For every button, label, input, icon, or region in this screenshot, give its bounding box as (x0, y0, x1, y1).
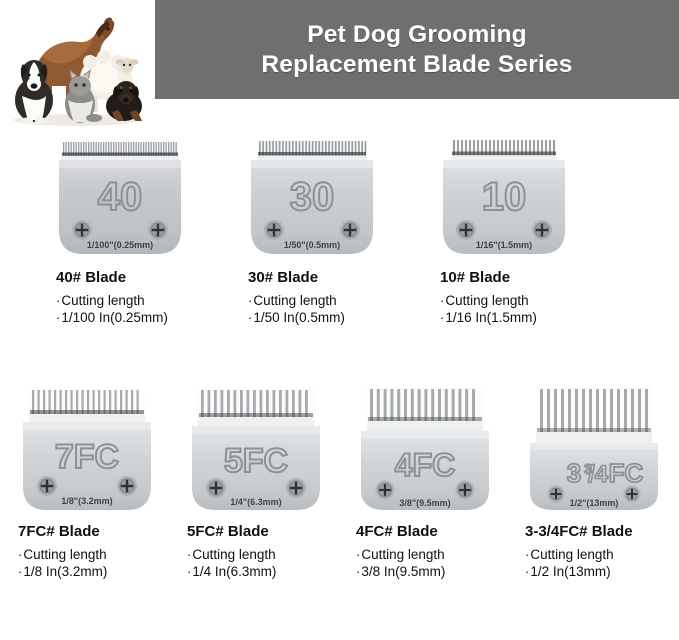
blade-spec-value: ·1/4 In(6.3mm) (187, 563, 340, 580)
blade-spec-value: ·1/50 In(0.5mm) (248, 309, 408, 326)
blade-screw-left (547, 486, 564, 503)
animal-collage-image (0, 0, 152, 128)
blade-screw-left (375, 481, 394, 500)
blade-spec-engraving-7fc: 1/8"(3.2mm) (61, 496, 112, 506)
blade-card-10: 10 1/16"(1.5mm) 10# Bla (408, 138, 600, 368)
blade-screw-left (264, 220, 284, 240)
blade-engraving-10: 10 (482, 175, 527, 219)
blade-screw-right (532, 220, 552, 240)
blade-spec-value-text: 1/50 In(0.5mm) (253, 310, 345, 325)
blade-spec-label-text: Cutting length (23, 547, 106, 562)
blade-row-2: 7FC 1/8"(3.2mm) 7FC# Bl (0, 386, 679, 621)
blade-caption-5fc: 5FC# Blade ·Cutting length ·1/4 In(6.3mm… (171, 522, 340, 580)
blade-engraving-30: 30 (290, 175, 335, 219)
blade-spec-label-text: Cutting length (192, 547, 275, 562)
blade-image-7fc: 7FC 1/8"(3.2mm) (17, 386, 157, 514)
blade-screw-left (456, 220, 476, 240)
blade-row-1: 40 1/100"(0.25mm) (0, 138, 679, 368)
blade-spec-label-text: Cutting length (530, 547, 613, 562)
blade-title: 40# Blade (56, 268, 216, 287)
blade-spec-label-text: Cutting length (361, 547, 444, 562)
blade-spec-value: ·3/8 In(9.5mm) (356, 563, 509, 580)
blade-engraving-40: 40 (98, 175, 143, 219)
blade-spec-label: ·Cutting length (248, 292, 408, 309)
blade-title: 4FC# Blade (356, 522, 509, 541)
blade-caption-7fc: 7FC# Blade ·Cutting length ·1/8 In(3.2mm… (2, 522, 171, 580)
blade-title: 30# Blade (248, 268, 408, 287)
blade-spec-value-text: 1/8 In(3.2mm) (23, 564, 107, 579)
blade-spec-label-text: Cutting length (253, 293, 336, 308)
blade-engraving-4fc: 4FC (394, 447, 454, 483)
blade-card-4fc: 4FC 3/8"(9.5mm) 4FC# Bl (340, 386, 509, 621)
blade-card-30: 30 1/50"(0.5mm) 30# Bla (216, 138, 408, 368)
blade-image-3-3-4fc: 3 3 /4 FC (524, 386, 664, 514)
blade-card-40: 40 1/100"(0.25mm) (24, 138, 216, 368)
blade-title: 5FC# Blade (187, 522, 340, 541)
blade-title: 3-3/4FC# Blade (525, 522, 678, 541)
blade-screw-right (286, 478, 306, 498)
blade-image-4fc: 4FC 3/8"(9.5mm) (355, 386, 495, 514)
blade-spec-label: ·Cutting length (440, 292, 600, 309)
blade-engraving-5fc: 5FC (223, 442, 287, 480)
blade-engraving-7fc: 7FC (54, 438, 118, 476)
blade-card-3-3-4fc: 3 3 /4 FC (509, 386, 678, 621)
page-header: Pet Dog Grooming Replacement Blade Serie… (0, 0, 679, 102)
blade-spec-engraving-3-3-4fc: 1/2"(13mm) (569, 498, 618, 508)
blade-spec-label: ·Cutting length (525, 546, 678, 563)
blade-spec-engraving-5fc: 1/4"(6.3mm) (230, 497, 281, 507)
blade-screw-left (37, 476, 57, 496)
blade-image-40: 40 1/100"(0.25mm) (55, 138, 185, 260)
blade-caption-4fc: 4FC# Blade ·Cutting length ·3/8 In(9.5mm… (340, 522, 509, 580)
blade-spec-value-text: 1/4 In(6.3mm) (192, 564, 276, 579)
page-title-line-1: Pet Dog Grooming (307, 20, 527, 50)
blade-spec-value: ·1/2 In(13mm) (525, 563, 678, 580)
blade-screw-right (148, 220, 168, 240)
svg-text:3: 3 (566, 458, 580, 488)
blade-spec-value: ·1/100 In(0.25mm) (56, 309, 216, 326)
blade-caption-3-3-4fc: 3-3/4FC# Blade ·Cutting length ·1/2 In(1… (509, 522, 678, 580)
blade-spec-label: ·Cutting length (187, 546, 340, 563)
blade-spec-value-text: 3/8 In(9.5mm) (361, 564, 445, 579)
blade-screw-right (623, 486, 640, 503)
blade-spec-value-text: 1/2 In(13mm) (530, 564, 610, 579)
blade-card-7fc: 7FC 1/8"(3.2mm) 7FC# Bl (2, 386, 171, 621)
blade-spec-label-text: Cutting length (445, 293, 528, 308)
blade-spec-label: ·Cutting length (18, 546, 171, 563)
page-title: Pet Dog Grooming Replacement Blade Serie… (155, 0, 679, 99)
blade-engraving-3-3-4fc: 3 3 /4 FC (566, 458, 643, 488)
blade-screw-right (117, 476, 137, 496)
blade-spec-engraving-10: 1/16"(1.5mm) (476, 240, 532, 250)
page-title-line-2: Replacement Blade Series (261, 50, 572, 80)
blade-caption-30: 30# Blade ·Cutting length ·1/50 In(0.5mm… (216, 268, 408, 326)
blade-card-5fc: 5FC 1/4"(6.3mm) 5FC# Bl (171, 386, 340, 621)
header-banner: Pet Dog Grooming Replacement Blade Serie… (155, 0, 679, 99)
blade-spec-value-text: 1/16 In(1.5mm) (445, 310, 537, 325)
blade-spec-label: ·Cutting length (56, 292, 216, 309)
blade-screw-left (206, 478, 226, 498)
blade-image-5fc: 5FC 1/4"(6.3mm) (186, 386, 326, 514)
blade-title: 10# Blade (440, 268, 600, 287)
blade-screw-left (72, 220, 92, 240)
blade-spec-label: ·Cutting length (356, 546, 509, 563)
blade-screw-right (340, 220, 360, 240)
blade-spec-value: ·1/16 In(1.5mm) (440, 309, 600, 326)
blade-caption-40: 40# Blade ·Cutting length ·1/100 In(0.25… (24, 268, 216, 326)
blade-spec-label-text: Cutting length (61, 293, 144, 308)
blade-spec-engraving-30: 1/50"(0.5mm) (284, 240, 340, 250)
svg-text:FC: FC (608, 458, 643, 488)
blade-spec-value: ·1/8 In(3.2mm) (18, 563, 171, 580)
blade-image-10: 10 1/16"(1.5mm) (439, 138, 569, 260)
svg-text:/4: /4 (587, 461, 608, 488)
blade-image-30: 30 1/50"(0.5mm) (247, 138, 377, 260)
blade-spec-value-text: 1/100 In(0.25mm) (61, 310, 168, 325)
blade-spec-engraving-4fc: 3/8"(9.5mm) (399, 498, 450, 508)
blade-screw-right (455, 481, 474, 500)
blade-spec-engraving-40: 1/100"(0.25mm) (87, 240, 153, 250)
blade-title: 7FC# Blade (18, 522, 171, 541)
blade-caption-10: 10# Blade ·Cutting length ·1/16 In(1.5mm… (408, 268, 600, 326)
